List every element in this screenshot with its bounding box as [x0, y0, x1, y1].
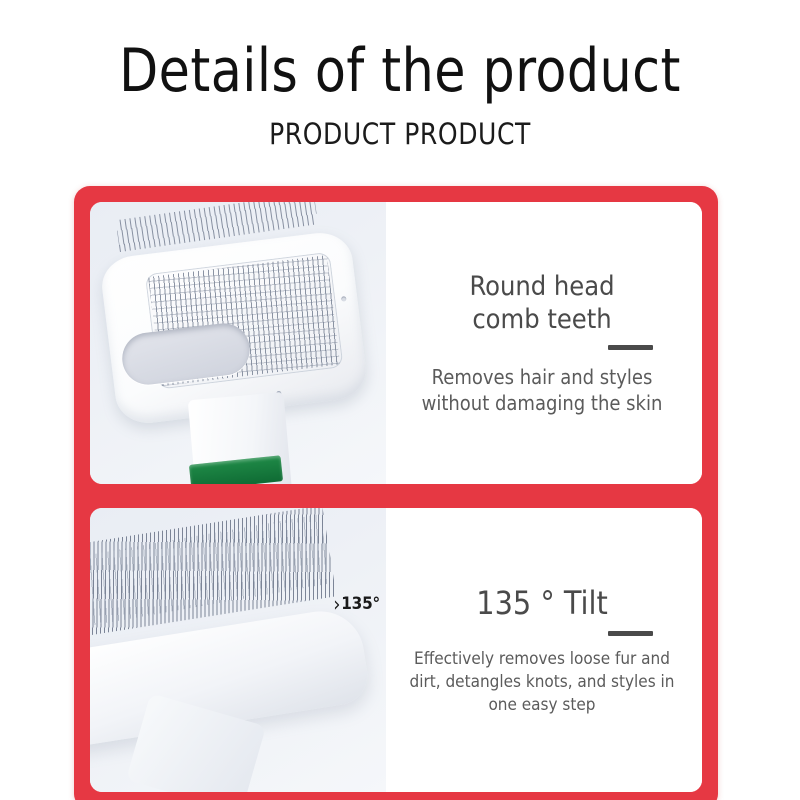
feature-text-round-head: Round head comb teeth Removes hair and s…: [386, 202, 702, 484]
feature-description: Effectively removes loose fur and dirt, …: [400, 648, 684, 717]
feature-description: Removes hair and styles without damaging…: [400, 364, 684, 416]
feature-title-line1: Round head: [400, 270, 684, 303]
page-header: Details of the product PRODUCT PRODUCT: [0, 0, 800, 150]
feature-title: 135 ° Tilt: [400, 584, 684, 622]
product-photo-tilt: › 135°: [90, 508, 386, 792]
product-photo-round-head: [90, 202, 386, 484]
angle-annotation: › 135°: [333, 594, 380, 614]
screw-icon: [341, 296, 347, 302]
feature-panel-tilt: › 135° 135 ° Tilt Effectively removes lo…: [90, 508, 702, 792]
feature-panel-round-head: Round head comb teeth Removes hair and s…: [90, 202, 702, 484]
red-frame-container: Round head comb teeth Removes hair and s…: [74, 186, 718, 800]
feature-title-line2: comb teeth: [400, 303, 684, 336]
angle-chevron-icon: ›: [333, 594, 340, 614]
feature-text-tilt: 135 ° Tilt Effectively removes loose fur…: [386, 508, 702, 792]
angle-value: 135°: [341, 594, 380, 614]
brush-tilt-illustration: [90, 508, 386, 792]
feature-title: Round head comb teeth: [400, 270, 684, 336]
page-subtitle: PRODUCT PRODUCT: [16, 118, 784, 150]
title-underline-rule: [608, 345, 653, 350]
brush-head-illustration: [90, 208, 386, 484]
product-detail-page: Details of the product PRODUCT PRODUCT: [0, 0, 800, 800]
page-title: Details of the product: [24, 40, 776, 102]
title-underline-rule: [608, 631, 653, 636]
